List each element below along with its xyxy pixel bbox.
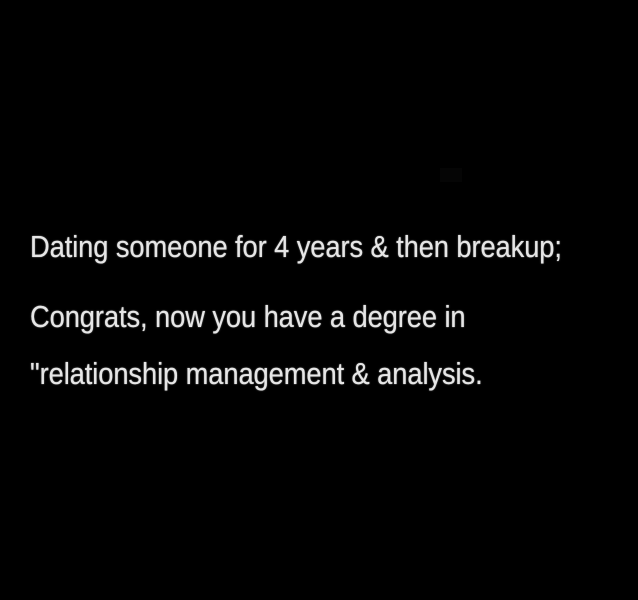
quote-card: Dating someone for 4 years & then breaku… xyxy=(0,0,638,600)
quote-line-1: Dating someone for 4 years & then breaku… xyxy=(30,232,567,262)
quote-line-2: Congrats, now you have a degree in xyxy=(30,302,567,332)
compression-artifact xyxy=(440,168,462,182)
quote-text-block: Dating someone for 4 years & then breaku… xyxy=(30,232,630,389)
quote-line-3: "relationship management & analysis. xyxy=(30,359,567,389)
